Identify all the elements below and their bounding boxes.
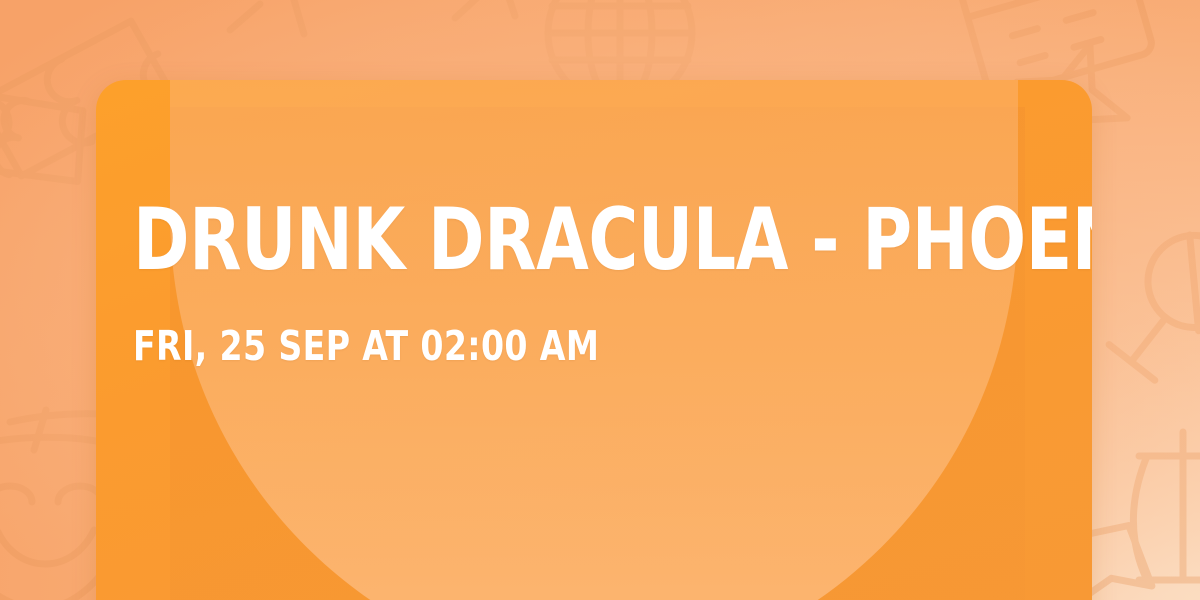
event-datetime: FRI, 25 SEP AT 02:00 AM (133, 326, 960, 367)
event-title: DRUNK DRACULA - PHOENIX (133, 200, 942, 282)
event-card: DRUNK DRACULA - PHOENIX FRI, 25 SEP AT 0… (96, 80, 1092, 600)
microphone-icon (1095, 217, 1200, 390)
event-banner: DRUNK DRACULA - PHOENIX FRI, 25 SEP AT 0… (0, 0, 1200, 600)
lantern-icon (1134, 432, 1200, 580)
confetti-icon (455, 0, 515, 18)
confetti-icon (230, 0, 304, 34)
event-card-text: DRUNK DRACULA - PHOENIX FRI, 25 SEP AT 0… (133, 200, 1052, 367)
ticket-stub-icon (0, 82, 95, 195)
